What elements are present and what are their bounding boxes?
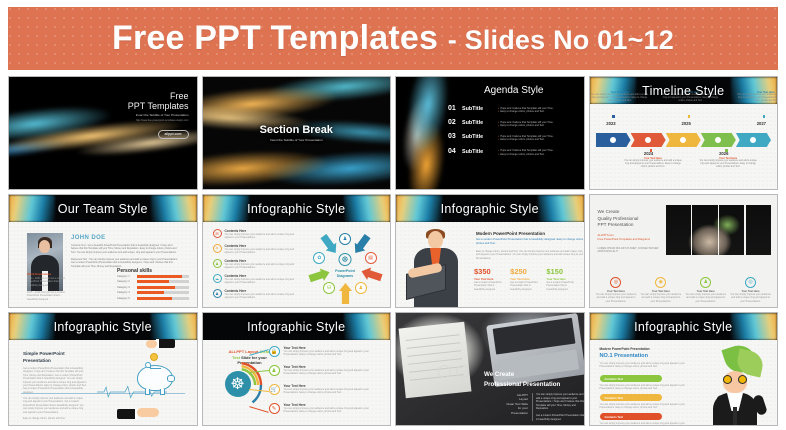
feature-body: You can simply impress your audience and…: [596, 293, 637, 303]
work-item-1: 2020 ~ 2023 Your ppt Get a modern PowerP…: [27, 277, 67, 287]
cycle-diagram: ☸ PowerPoint Diagrams ♟▤♟⛁✿: [308, 229, 382, 303]
skill-label: Category 4: [117, 291, 137, 294]
list-item-icon: ✉: [213, 229, 222, 238]
eyeglasses-photo: [438, 365, 472, 379]
timeline-caption-body: You can simply impress your audience and…: [624, 160, 682, 169]
piggy-snout: [167, 375, 175, 382]
coin-icon: [150, 353, 158, 361]
timeline-segment[interactable]: [631, 133, 666, 147]
feature-icon-item[interactable]: ◎Your Text HereYou can simply impress yo…: [730, 277, 771, 303]
brand-logo: allppt.com: [158, 130, 189, 139]
slide-canvas: Infographic Style Modern PowerPoint Pres…: [396, 195, 584, 307]
photo-panel: [746, 205, 771, 255]
left-text-block: We Create Quality Professional PPT Prese…: [598, 209, 660, 254]
feature-body: You can simply impress your audience and…: [730, 293, 771, 303]
content-pill[interactable]: Contents Text: [600, 375, 662, 382]
thumbnail-grid: Free PPT Templates Insert the Subtitle o…: [8, 76, 778, 426]
desk-column-2: You can simply impress your audience and…: [532, 393, 584, 421]
radial-item-text: Your Text HereYou can simply impress you…: [284, 346, 382, 357]
slide-canvas: Infographic Style ☸ PowerPoint Diagrams …: [203, 195, 391, 307]
price-column: $350Your Text HereGet a modern PowerPoin…: [474, 267, 505, 291]
feature-body: You can simply impress your audience and…: [640, 293, 681, 303]
feature-icon-item[interactable]: ♟Your Text HereYou can simply impress yo…: [685, 277, 726, 303]
agenda-number: 04: [448, 148, 462, 155]
cycle-node[interactable]: ♟: [355, 282, 367, 294]
timeline-segment[interactable]: [596, 133, 631, 147]
bullet: Easy to change colors, photos and Text.: [498, 124, 579, 128]
title-line-2: PPT Templates: [128, 101, 189, 111]
agenda-label: SubTitle: [462, 133, 498, 140]
content-pill[interactable]: Contents Text: [600, 394, 662, 401]
timeline-caption-body: You can simply impress your audience and…: [699, 160, 757, 169]
timeline-caption: Your Text HereYou can simply impress you…: [624, 157, 682, 169]
price-columns: $350Your Text HereGet a modern PowerPoin…: [474, 267, 578, 291]
timeline-year: 2023: [606, 121, 615, 126]
radial-item-icon: 🛒: [269, 384, 280, 395]
agenda-label: SubTitle: [462, 148, 498, 155]
slide-canvas: Infographic Style ALLPPT Layout Clean Te…: [203, 313, 391, 425]
binoculars-icon: [723, 375, 747, 384]
skill-label: Category 1: [117, 275, 137, 278]
agenda-bullets: Hope and I believe that Template will yo…: [498, 105, 579, 114]
slide-thumbnail-04[interactable]: Timeline Style 20232024202520262027 Your…: [589, 76, 779, 190]
icon-row: ◎Your Text HereYou can simply impress yo…: [596, 277, 772, 303]
skill-fill: [137, 291, 164, 294]
skills-title: Personal skills: [117, 268, 152, 274]
slide-thumbnail-02[interactable]: Section Break Insert the Subtitle of You…: [202, 76, 392, 190]
cycle-node[interactable]: ✿: [313, 252, 325, 264]
content-list-item[interactable]: ✉Contents HereYou can simply impress you…: [213, 229, 297, 240]
title-line-1: Free: [128, 91, 189, 101]
radial-item[interactable]: 🛒Your Text HereYou can simply impress yo…: [269, 384, 382, 395]
agenda-row: 01 SubTitle Hope and I believe that Temp…: [448, 105, 579, 114]
skill-track: [137, 291, 189, 294]
agenda-row: 02 SubTitle Hope and I believe that Temp…: [448, 119, 579, 128]
timeline-year: 2026: [719, 151, 728, 156]
skills-list: Category 1Category 2Category 3Category 4…: [117, 275, 189, 302]
title-block: Section Break Insert the Subtitle of You…: [203, 77, 391, 189]
team-paragraph-2: Represent Text : You can simply impress …: [71, 258, 181, 268]
piggy-slot: [150, 368, 161, 369]
radial-item-body: You can simply impress your audience and…: [284, 388, 382, 395]
piggy-bank-icon: [137, 365, 173, 391]
feature-icon: ◉: [655, 277, 666, 288]
radial-item-body: You can simply impress your audience and…: [284, 407, 382, 414]
price-body: Get a modern PowerPoint Presentation tha…: [510, 281, 541, 291]
list-item-icon: ☂: [213, 244, 222, 253]
desk-column-1: ALLPPT Layout Clean Text Slide for your …: [484, 393, 528, 415]
skill-track: [137, 286, 189, 289]
templates-gallery-page: Free PPT Templates - Slides No 01~12 Fre…: [0, 7, 786, 430]
list-item-icon: ♟: [213, 289, 222, 298]
page-banner: Free PPT Templates - Slides No 01~12: [8, 7, 778, 70]
cycle-arrow: [339, 283, 352, 304]
content-list-item[interactable]: ♟Contents HereYou can simply impress you…: [213, 259, 297, 270]
bullet: Easy to change colors, photos and Text.: [498, 110, 579, 114]
timeline-segment[interactable]: [701, 133, 736, 147]
price-body: Get a modern PowerPoint Presentation tha…: [474, 281, 505, 291]
agenda-bullets: Hope and I believe that Template will yo…: [498, 133, 579, 142]
subtitle: Insert the Subtitle of Your Presentation: [128, 113, 189, 117]
team-paragraph-1: Contents Text : Get a beautiful PowerPoi…: [71, 244, 181, 254]
site-url: http://www.free-powerpoint-templates-des…: [128, 119, 189, 122]
skill-row: Category 3: [117, 286, 189, 289]
team-member-name: JOHN DOE: [71, 235, 106, 241]
photo-head: [39, 240, 50, 253]
feature-icon: ♟: [700, 277, 711, 288]
skill-track: [137, 280, 189, 283]
timeline-caption: Your Text HereYou can simply impress you…: [699, 157, 757, 169]
timeline-year: 2025: [682, 121, 691, 126]
slide-thumbnail-09[interactable]: Infographic Style Simple PowerPoint Pres…: [8, 312, 198, 426]
radial-item[interactable]: ✎Your Text HereYou can simply impress yo…: [269, 403, 382, 414]
skill-row: Category 1: [117, 275, 189, 278]
skill-fill: [137, 297, 172, 300]
bullet: Easy to change colors, photos and Text.: [498, 153, 579, 157]
slide-thumbnail-11[interactable]: We Create Professional Presentation ALLP…: [395, 312, 585, 426]
pricing-subtitle: Get a modern PowerPoint Presentation tha…: [476, 238, 584, 246]
skill-label: Category 2: [117, 280, 137, 283]
pill-body: You can simply impress your audience and…: [600, 384, 688, 391]
list-item-text: Contents HereYou can simply impress your…: [225, 289, 297, 300]
desk-title-line-2: Professional Presentation: [484, 381, 560, 388]
feature-icon: ◎: [745, 277, 756, 288]
page-title-main: Free PPT Templates: [112, 19, 438, 57]
section-subtitle: Insert the Subtitle of Your Presentation: [270, 138, 323, 142]
skill-fill: [137, 275, 182, 278]
radial-item-icon: ✎: [269, 403, 280, 414]
agenda-number: 02: [448, 119, 462, 126]
timeline-segment[interactable]: [666, 133, 701, 147]
section-title: Section Break: [260, 124, 333, 136]
globe-icon: ☸: [225, 371, 251, 397]
timeline-tick: [763, 115, 766, 118]
price-amount: $250: [510, 267, 541, 276]
hand-supporting: [117, 399, 161, 419]
price-amount: $350: [474, 267, 505, 276]
radial-item-icon: ♟: [269, 365, 280, 376]
list-item-text: Contents HereYou can simply impress your…: [225, 274, 297, 285]
slide-thumbnail-12[interactable]: Infographic Style Modern PowerPoint Pres…: [589, 312, 779, 426]
price-column: $150Your Text HereGet a modern PowerPoin…: [546, 267, 577, 291]
illustration-head: [428, 231, 443, 249]
slide-thumbnail-03[interactable]: Agenda Style 01 SubTitle Hope and I beli…: [395, 76, 585, 190]
pricing-title: Modern PowerPoint Presentation: [476, 231, 545, 236]
pill-body: You can simply impress your audience and…: [600, 422, 688, 425]
list-item-text: Contents HereYou can simply impress your…: [225, 244, 297, 255]
piggy-body-3: Easy to change colors, photos and Text.: [23, 417, 87, 420]
radial-item[interactable]: ♟Your Text HereYou can simply impress yo…: [269, 365, 382, 376]
radial-item-body: You can simply impress your audience and…: [284, 369, 382, 376]
pill-body: You can simply impress your audience and…: [600, 403, 688, 410]
timeline-bar: [596, 133, 772, 147]
slide-thumbnail-01[interactable]: Free PPT Templates Insert the Subtitle o…: [8, 76, 198, 190]
list-item-body: You can simply impress your audience and…: [225, 293, 297, 300]
timeline-tick: [725, 149, 728, 152]
list-item-body: You can simply impress your audience and…: [225, 263, 297, 270]
agenda-row: 03 SubTitle Hope and I believe that Temp…: [448, 133, 579, 142]
slide-canvas: We Create Professional Presentation ALLP…: [396, 313, 584, 425]
timeline-year: 2027: [757, 121, 766, 126]
slide-canvas: Infographic Style Simple PowerPoint Pres…: [9, 313, 197, 425]
cycle-node[interactable]: ⛁: [323, 282, 335, 294]
photo-panel: [719, 205, 744, 255]
man-tie: [733, 407, 737, 425]
list-item-body: You can simply impress your audience and…: [225, 233, 297, 240]
timeline-tick: [612, 115, 615, 118]
list-item-icon: ☁: [213, 274, 222, 283]
title-block: Free PPT Templates Insert the Subtitle o…: [128, 91, 189, 140]
timeline-tick: [650, 149, 653, 152]
timeline-segment[interactable]: [736, 133, 771, 147]
panel-brand-text: ALLPPT.com Free PowerPoint Templates and…: [598, 234, 660, 242]
slide-header: Infographic Style: [396, 195, 584, 222]
agenda-number: 03: [448, 133, 462, 140]
feature-icon: ◎: [610, 277, 621, 288]
radial-item-text: Your Text HereYou can simply impress you…: [284, 384, 382, 395]
skill-track: [137, 297, 189, 300]
piggy-body-1: Get a modern PowerPoint Presentation tha…: [23, 367, 87, 394]
feature-body: You can simply impress your audience and…: [685, 293, 726, 303]
radial-item-text: Your Text HereYou can simply impress you…: [284, 403, 382, 414]
slide-header: Infographic Style: [203, 313, 391, 340]
skill-label: Category 5: [117, 297, 137, 300]
slide-thumbnail-06[interactable]: Infographic Style ☸ PowerPoint Diagrams …: [202, 194, 392, 308]
skill-label: Category 3: [117, 286, 137, 289]
globe-icon: ☸: [339, 253, 352, 266]
page-title-sub: - Slides No 01~12: [448, 25, 674, 55]
timeline-tick: [688, 115, 691, 118]
skill-track: [137, 275, 189, 278]
slide-header: Infographic Style: [9, 313, 197, 340]
page-title: Free PPT Templates - Slides No 01~12: [112, 19, 674, 58]
agenda-label: SubTitle: [462, 105, 498, 112]
content-list-item[interactable]: ☂Contents HereYou can simply impress you…: [213, 244, 297, 255]
slide-header: Our Team Style: [9, 195, 197, 222]
list-item-text: Contents HereYou can simply impress your…: [225, 229, 297, 240]
skill-row: Category 4: [117, 291, 189, 294]
pricing-body: Easy to change colors, photos and Text. …: [476, 250, 584, 260]
slide-canvas: Our Team Style JOHN DOE Contents Text : …: [9, 195, 197, 307]
content-pill[interactable]: Contents Text: [600, 413, 662, 420]
list-item-body: You can simply impress your audience and…: [225, 248, 297, 255]
work-item-2: 2015 ~ 2019 Your ppt Get a modern PowerP…: [27, 291, 67, 301]
slide-thumbnail-07[interactable]: Infographic Style Modern PowerPoint Pres…: [395, 194, 585, 308]
agenda-label: SubTitle: [462, 119, 498, 126]
laptop-screen: [492, 318, 575, 355]
photo-panel-strip: [666, 205, 772, 255]
agenda-row: 04 SubTitle Hope and I believe that Temp…: [448, 148, 579, 157]
slide-header: Infographic Style: [203, 195, 391, 222]
slide-thumbnail-08[interactable]: We Create Quality Professional PPT Prese…: [589, 194, 779, 308]
content-list-item[interactable]: ☁Contents HereYou can simply impress you…: [213, 274, 297, 285]
desk-title-line-1: We Create: [484, 371, 514, 378]
skill-fill: [137, 280, 169, 283]
list-item-text: Contents HereYou can simply impress your…: [225, 259, 297, 270]
content-list-item[interactable]: ♟Contents HereYou can simply impress you…: [213, 289, 297, 300]
businesswoman-illustration: [406, 229, 468, 307]
skill-row: Category 2: [117, 280, 189, 283]
cycle-node[interactable]: ▤: [365, 252, 377, 264]
radial-item-icon: 🔒: [269, 346, 280, 357]
bullet: Easy to change colors, photos and Text.: [498, 138, 579, 142]
radial-item-body: You can simply impress your audience and…: [284, 350, 382, 357]
feature-icon-item[interactable]: ◎Your Text HereYou can simply impress yo…: [596, 277, 637, 303]
agenda-bullets: Hope and I believe that Template will yo…: [498, 148, 579, 157]
price-amount: $150: [546, 267, 577, 276]
radial-item-text: Your Text HereYou can simply impress you…: [284, 365, 382, 376]
slide-canvas: Section Break Insert the Subtitle of You…: [203, 77, 391, 189]
work-experience-title: Work Experience: [27, 272, 51, 276]
agenda-bullets: Hope and I believe that Template will yo…: [498, 119, 579, 128]
panel-title: We Create Quality Professional PPT Prese…: [598, 209, 660, 229]
timeline-year: 2024: [644, 151, 653, 156]
list-item-body: You can simply impress your audience and…: [225, 278, 297, 285]
slide-canvas: We Create Quality Professional PPT Prese…: [590, 195, 778, 307]
price-column: $250Your Text HereGet a modern PowerPoin…: [510, 267, 541, 291]
skill-fill: [137, 286, 175, 289]
slide-thumbnail-05[interactable]: Our Team Style JOHN DOE Contents Text : …: [8, 194, 198, 308]
agenda-list: 01 SubTitle Hope and I believe that Temp…: [448, 105, 579, 162]
radial-item[interactable]: 🔒Your Text HereYou can simply impress yo…: [269, 346, 382, 357]
price-body: Get a modern PowerPoint Presentation tha…: [546, 281, 577, 291]
piggy-title: Simple PowerPoint Presentation: [23, 351, 83, 364]
skill-row: Category 5: [117, 297, 189, 300]
timeline-marker: [609, 136, 617, 144]
slide-header: Timeline Style: [590, 77, 778, 104]
cycle-node[interactable]: ♟: [339, 233, 351, 245]
clipboard-paper: [399, 322, 472, 399]
slide-canvas: Infographic Style Modern PowerPoint Pres…: [590, 313, 778, 425]
slide-canvas: Free PPT Templates Insert the Subtitle o…: [9, 77, 197, 189]
panel-gray-text: LOREM IPSUM DOLOR SIT AMET, CONSECTETUER…: [598, 247, 660, 254]
list-item-icon: ♟: [213, 259, 222, 268]
photo-panel: [666, 205, 691, 255]
slide-canvas: Timeline Style 20232024202520262027 Your…: [590, 77, 778, 189]
slide-header: Agenda Style: [450, 85, 578, 96]
agenda-number: 01: [448, 105, 462, 112]
photo-panel: [692, 205, 717, 255]
hand-dropping-coin: [145, 339, 175, 355]
piggy-body-2: You can simply impress your audience and…: [23, 397, 87, 414]
slide-thumbnail-10[interactable]: Infographic Style ALLPPT Layout Clean Te…: [202, 312, 392, 426]
slide-canvas: Agenda Style 01 SubTitle Hope and I beli…: [396, 77, 584, 189]
slide-header: Infographic Style: [590, 313, 778, 340]
feature-icon-item[interactable]: ◉Your Text HereYou can simply impress yo…: [640, 277, 681, 303]
